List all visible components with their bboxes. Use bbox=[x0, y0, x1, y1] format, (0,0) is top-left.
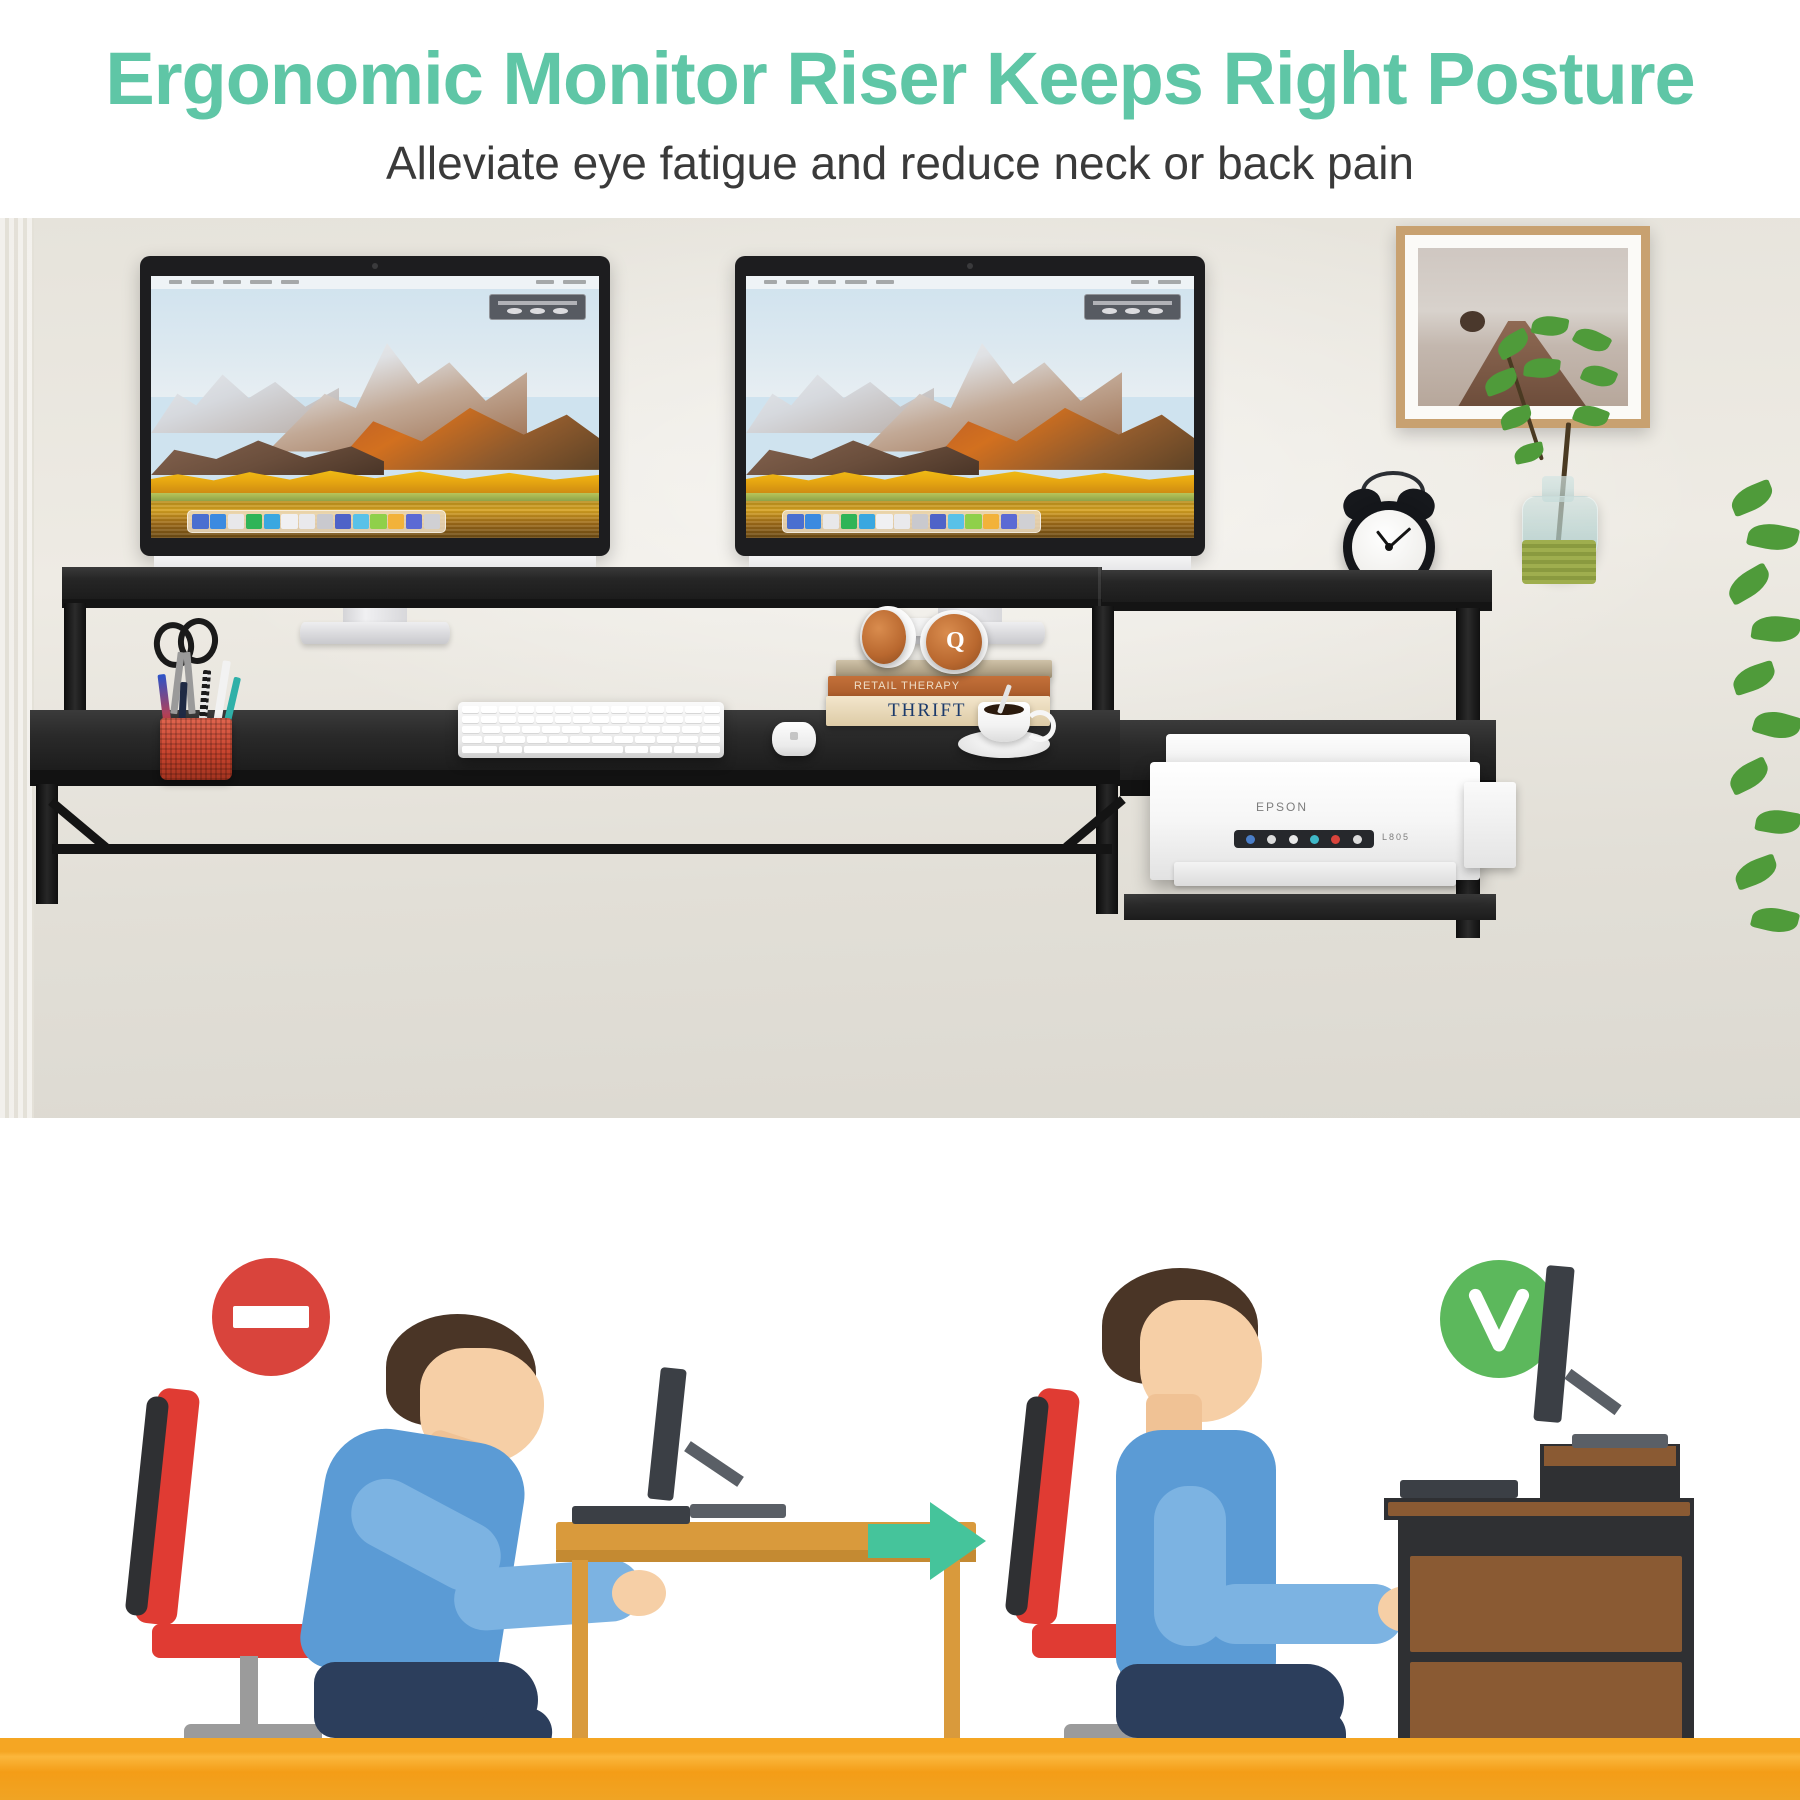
key bbox=[522, 726, 540, 734]
key bbox=[536, 706, 553, 714]
key bbox=[622, 726, 640, 734]
macos-menubar bbox=[151, 276, 599, 289]
plant-leaf bbox=[1750, 903, 1800, 937]
plant-leaf bbox=[1725, 756, 1773, 796]
key bbox=[542, 726, 560, 734]
page-title: Ergonomic Monitor Riser Keeps Right Post… bbox=[0, 42, 1800, 116]
monitor-on-riser bbox=[1528, 1266, 1708, 1466]
key bbox=[662, 726, 680, 734]
key bbox=[462, 746, 497, 754]
printer-ink-tank bbox=[1464, 782, 1516, 868]
key bbox=[657, 736, 677, 744]
key bbox=[602, 726, 620, 734]
key bbox=[682, 726, 700, 734]
key bbox=[481, 716, 498, 724]
key bbox=[549, 736, 569, 744]
mouse[interactable] bbox=[772, 722, 816, 756]
wifi-button-icon[interactable] bbox=[1353, 835, 1362, 844]
headphones: Q bbox=[846, 604, 1006, 680]
paper-feed-icon[interactable] bbox=[1267, 835, 1276, 844]
product-photo: RETAIL THERAPY THRIFT Q bbox=[0, 218, 1800, 1118]
key bbox=[499, 706, 516, 714]
key bbox=[524, 746, 624, 754]
riser-leg-left bbox=[64, 603, 86, 723]
key bbox=[481, 706, 498, 714]
branch-leaf bbox=[1512, 441, 1545, 465]
left-monitor-camera bbox=[372, 263, 378, 269]
monitor-base bbox=[1572, 1434, 1668, 1448]
riser-shelf-seam bbox=[1098, 567, 1101, 608]
coffee-set bbox=[958, 694, 1062, 762]
key bbox=[527, 736, 547, 744]
branch-leaf bbox=[1571, 323, 1612, 358]
key bbox=[648, 716, 665, 724]
posture-comparison-illustration bbox=[0, 1118, 1800, 1800]
branch-leaf bbox=[1482, 367, 1521, 397]
right-edge-plant bbox=[1726, 476, 1800, 996]
key bbox=[611, 716, 628, 724]
left-monitor bbox=[140, 256, 610, 616]
key bbox=[482, 726, 500, 734]
keyboard-row bbox=[462, 746, 720, 754]
pen-holder-group bbox=[152, 618, 242, 768]
clock-center-pin bbox=[1385, 543, 1393, 551]
cup-handle bbox=[1024, 710, 1056, 742]
key bbox=[499, 746, 521, 754]
monitor-no-riser bbox=[640, 1368, 800, 1528]
dialog-titlebar bbox=[1093, 301, 1172, 305]
key bbox=[629, 716, 646, 724]
key bbox=[462, 726, 480, 734]
key bbox=[614, 736, 634, 744]
keyboard-row bbox=[462, 726, 720, 734]
key bbox=[502, 726, 520, 734]
plant-leaf bbox=[1750, 613, 1800, 645]
plant-leaf bbox=[1729, 660, 1778, 696]
book-title: THRIFT bbox=[888, 700, 967, 722]
keyboard-row bbox=[462, 716, 720, 724]
header-band: Ergonomic Monitor Riser Keeps Right Post… bbox=[0, 0, 1800, 218]
headphone-logo: Q bbox=[946, 628, 965, 655]
branch-leaf bbox=[1579, 360, 1618, 391]
right-monitor bbox=[735, 256, 1205, 616]
product-marketing-image: Ergonomic Monitor Riser Keeps Right Post… bbox=[0, 0, 1800, 1800]
plant-leaf bbox=[1723, 562, 1775, 606]
plant-leaf bbox=[1746, 519, 1800, 555]
key bbox=[704, 716, 721, 724]
plant-leaf bbox=[1754, 806, 1800, 837]
printer: EPSON L805 bbox=[1150, 734, 1510, 904]
monitor-panel bbox=[647, 1367, 687, 1501]
key bbox=[484, 736, 504, 744]
key bbox=[592, 706, 609, 714]
key bbox=[635, 736, 655, 744]
key bbox=[685, 706, 702, 714]
branch-leaf bbox=[1531, 313, 1570, 339]
key bbox=[462, 706, 479, 714]
macos-dock bbox=[187, 510, 446, 533]
key bbox=[582, 726, 600, 734]
desk-cross-brace bbox=[52, 844, 1112, 854]
printer-output-tray bbox=[1174, 862, 1456, 886]
key bbox=[573, 706, 590, 714]
keyboard[interactable] bbox=[458, 702, 724, 758]
keyboard-illustration bbox=[572, 1506, 690, 1524]
branch-leaf bbox=[1523, 356, 1561, 380]
book-subtitle: RETAIL THERAPY bbox=[854, 680, 960, 692]
forearm bbox=[1206, 1584, 1404, 1644]
key bbox=[700, 736, 720, 744]
macos-menubar bbox=[746, 276, 1194, 289]
key bbox=[518, 716, 535, 724]
key bbox=[648, 706, 665, 714]
dialog-buttons bbox=[507, 308, 567, 315]
monitor-stand bbox=[684, 1441, 744, 1487]
key bbox=[555, 706, 572, 714]
branch-leaf bbox=[1493, 327, 1532, 361]
macos-dock bbox=[782, 510, 1041, 533]
key bbox=[462, 736, 482, 744]
dialog-titlebar bbox=[498, 301, 577, 305]
key bbox=[625, 746, 647, 754]
key bbox=[592, 716, 609, 724]
keyboard-row bbox=[462, 736, 720, 744]
alert-button-icon[interactable] bbox=[1331, 835, 1340, 844]
floor-strip bbox=[0, 1738, 1800, 1800]
desk-surface bbox=[1388, 1502, 1690, 1516]
printer-control-panel[interactable] bbox=[1234, 830, 1374, 848]
screen-dialog bbox=[489, 294, 585, 320]
key bbox=[629, 706, 646, 714]
glass-vase-plant bbox=[1470, 310, 1660, 600]
key bbox=[650, 746, 672, 754]
key bbox=[562, 726, 580, 734]
riser-shelf-right-edge bbox=[1102, 602, 1492, 611]
key bbox=[505, 736, 525, 744]
key bbox=[536, 716, 553, 724]
key bbox=[674, 746, 696, 754]
power-button-icon[interactable] bbox=[1246, 835, 1255, 844]
plant-leaf bbox=[1731, 853, 1781, 891]
printer-model-label: L805 bbox=[1382, 832, 1410, 842]
headphone-earcup-left bbox=[862, 610, 906, 664]
key bbox=[573, 716, 590, 724]
left-monitor-base bbox=[300, 622, 450, 644]
key bbox=[611, 706, 628, 714]
key bbox=[570, 736, 590, 744]
monitor-panel bbox=[1533, 1265, 1574, 1423]
monitor-base bbox=[690, 1504, 786, 1518]
key bbox=[702, 726, 720, 734]
branch-leaf bbox=[1572, 401, 1611, 431]
key bbox=[462, 716, 479, 724]
key bbox=[555, 716, 572, 724]
key bbox=[704, 706, 721, 714]
key bbox=[666, 716, 683, 724]
riser-shelf-left bbox=[62, 567, 1102, 601]
printer-brand-label: EPSON bbox=[1256, 800, 1308, 814]
key bbox=[679, 736, 699, 744]
right-monitor-screen bbox=[746, 276, 1194, 538]
key bbox=[499, 716, 516, 724]
screen-dialog bbox=[1084, 294, 1180, 320]
ink-button-icon[interactable] bbox=[1310, 835, 1319, 844]
plant-leaf bbox=[1751, 706, 1800, 744]
stop-button-icon[interactable] bbox=[1289, 835, 1298, 844]
left-monitor-screen bbox=[151, 276, 599, 538]
right-monitor-camera bbox=[967, 263, 973, 269]
key bbox=[666, 706, 683, 714]
riser-shelf-right bbox=[1102, 570, 1492, 604]
keyboard-row bbox=[462, 706, 720, 714]
key bbox=[698, 746, 720, 754]
page-subtitle: Alleviate eye fatigue and reduce neck or… bbox=[0, 140, 1800, 186]
key bbox=[685, 716, 702, 724]
monitor-stand bbox=[1564, 1369, 1621, 1415]
desk-drawer-upper bbox=[1410, 1556, 1682, 1652]
pen-cup bbox=[160, 718, 232, 780]
key bbox=[518, 706, 535, 714]
vase-basket-wrap bbox=[1522, 540, 1596, 584]
dialog-buttons bbox=[1102, 308, 1162, 315]
plant-leaf bbox=[1727, 479, 1777, 518]
keyboard-illustration bbox=[1400, 1480, 1518, 1498]
curtain bbox=[0, 218, 34, 1118]
transition-arrow bbox=[868, 1496, 988, 1586]
key bbox=[642, 726, 660, 734]
key bbox=[592, 736, 612, 744]
